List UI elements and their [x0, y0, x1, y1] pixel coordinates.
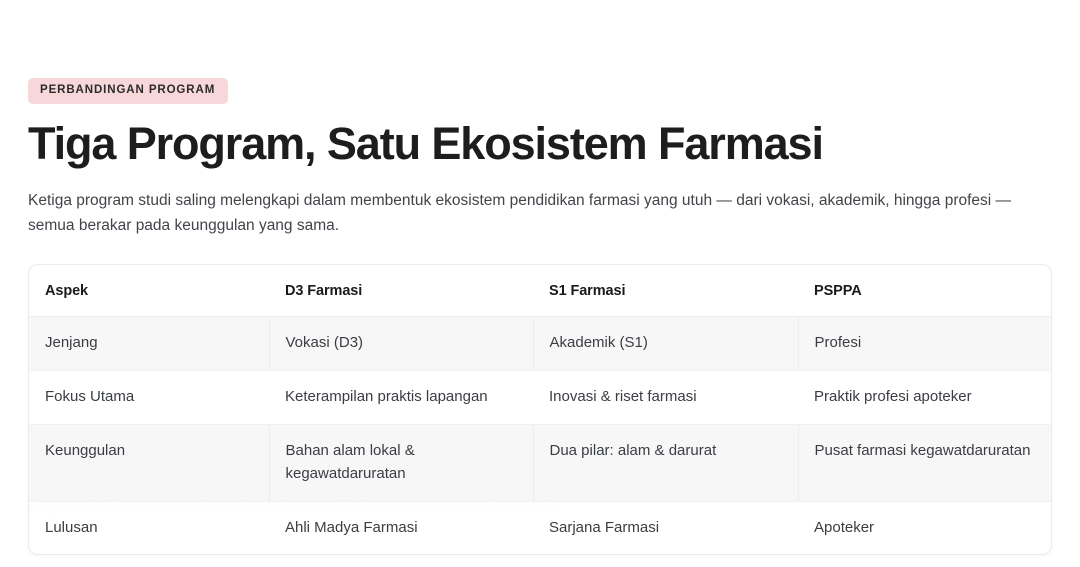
- column-header-d3: D3 Farmasi: [269, 265, 533, 317]
- cell-d3: Keterampilan praktis lapangan: [269, 371, 533, 425]
- table-row: Keunggulan Bahan alam lokal & kegawatdar…: [29, 424, 1051, 501]
- cell-d3: Vokasi (D3): [269, 317, 533, 371]
- table-row: Fokus Utama Keterampilan praktis lapanga…: [29, 371, 1051, 425]
- section-eyebrow-badge: PERBANDINGAN PROGRAM: [28, 78, 228, 104]
- column-header-aspek: Aspek: [29, 265, 269, 317]
- cell-s1: Dua pilar: alam & darurat: [533, 424, 798, 501]
- comparison-section: PERBANDINGAN PROGRAM Tiga Program, Satu …: [0, 0, 1080, 567]
- cell-s1: Inovasi & riset farmasi: [533, 371, 798, 425]
- cell-psppa: Profesi: [798, 317, 1051, 371]
- column-header-s1: S1 Farmasi: [533, 265, 798, 317]
- page-title: Tiga Program, Satu Ekosistem Farmasi: [28, 120, 1052, 169]
- table-header-row: Aspek D3 Farmasi S1 Farmasi PSPPA: [29, 265, 1051, 317]
- cell-d3: Bahan alam lokal & kegawatdaruratan: [269, 424, 533, 501]
- column-header-psppa: PSPPA: [798, 265, 1051, 317]
- table-row: Jenjang Vokasi (D3) Akademik (S1) Profes…: [29, 317, 1051, 371]
- cell-psppa: Pusat farmasi kegawatdaruratan: [798, 424, 1051, 501]
- cell-aspek: Jenjang: [29, 317, 269, 371]
- cell-aspek: Keunggulan: [29, 424, 269, 501]
- cell-s1: Akademik (S1): [533, 317, 798, 371]
- cell-aspek: Fokus Utama: [29, 371, 269, 425]
- section-intro-text: Ketiga program studi saling melengkapi d…: [28, 188, 1030, 238]
- background-ghost-text: Program studi farmasi kegawatdaruratan b…: [28, 498, 1028, 519]
- cell-psppa: Praktik profesi apoteker: [798, 371, 1051, 425]
